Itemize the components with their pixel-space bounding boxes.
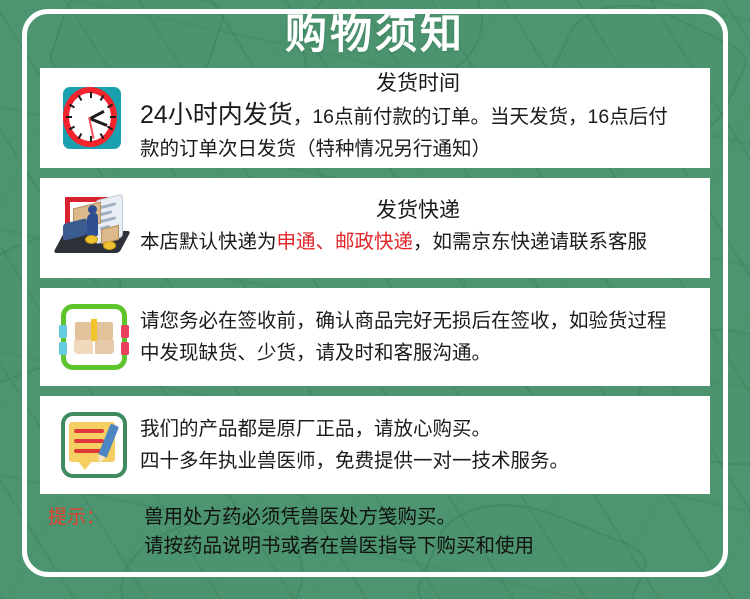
card-text-rest: ，16点前付款的订单。当天发货，16点后付 — [293, 106, 668, 128]
card-heading: 发货时间 — [140, 71, 696, 97]
notice-card-list: 发货时间 24小时内发货，16点前付款的订单。当天发货，16点后付 款的订单次日… — [40, 68, 710, 504]
card-text-line: 款的订单次日发货（特种情况另行通知） — [140, 133, 696, 165]
card-text-line: 本店默认快递为申通、邮政快递，如需京东快递请联系客服 — [140, 226, 696, 258]
card-icon-slot — [48, 408, 140, 482]
delivery-courier-icon — [57, 191, 131, 265]
card-icon-slot — [48, 191, 140, 265]
card-text-line: 中发现缺货、少货，请及时和客服沟通。 — [140, 337, 696, 369]
tip-text-line: 兽用处方药必须凭兽医处方笺购买。 — [144, 503, 708, 532]
notice-card-quality: 我们的产品都是原厂正品，请放心购买。 四十多年执业兽医师，免费提供一对一技术服务… — [40, 396, 710, 494]
tip-text-line: 请按药品说明书或者在兽医指导下购买和使用 — [144, 532, 708, 561]
notice-card-shipping-time: 发货时间 24小时内发货，16点前付款的订单。当天发货，16点后付 款的订单次日… — [40, 68, 710, 168]
card-body: 请您务必在签收前，确认商品完好无损后在签收，如验货过程 中发现缺货、少货，请及时… — [140, 305, 700, 369]
card-text-line: 请您务必在签收前，确认商品完好无损后在签收，如验货过程 — [140, 305, 696, 337]
tip-text: 兽用处方药必须凭兽医处方笺购买。 请按药品说明书或者在兽医指导下购买和使用 — [144, 503, 708, 561]
card-text-suffix: ，如需京东快递请联系客服 — [413, 231, 647, 253]
emphasis-text: 24小时内发货 — [140, 101, 293, 129]
package-box-icon — [57, 300, 131, 374]
note-pencil-icon — [57, 408, 131, 482]
card-body: 发货时间 24小时内发货，16点前付款的订单。当天发货，16点后付 款的订单次日… — [140, 71, 700, 165]
tip-label: 提示： — [48, 503, 144, 532]
card-icon-slot — [48, 81, 140, 155]
prescription-tip: 提示： 兽用处方药必须凭兽医处方笺购买。 请按药品说明书或者在兽医指导下购买和使… — [48, 503, 708, 561]
card-icon-slot — [48, 300, 140, 374]
card-text-prefix: 本店默认快递为 — [140, 231, 277, 253]
notice-card-courier: 发货快递 本店默认快递为申通、邮政快递，如需京东快递请联系客服 — [40, 178, 710, 278]
page-title: 购物须知 — [0, 8, 750, 60]
card-body: 发货快递 本店默认快递为申通、邮政快递，如需京东快递请联系客服 — [140, 198, 700, 258]
highlight-courier-names: 申通、邮政快递 — [277, 231, 414, 253]
notice-card-inspection: 请您务必在签收前，确认商品完好无损后在签收，如验货过程 中发现缺货、少货，请及时… — [40, 288, 710, 386]
shopping-notice-poster: 购物须知 — [0, 0, 750, 599]
alarm-clock-icon — [57, 81, 131, 155]
card-text-line: 四十多年执业兽医师，免费提供一对一技术服务。 — [140, 445, 696, 477]
card-heading: 发货快递 — [140, 198, 696, 224]
card-text-line: 24小时内发货，16点前付款的订单。当天发货，16点后付 — [140, 99, 696, 133]
card-body: 我们的产品都是原厂正品，请放心购买。 四十多年执业兽医师，免费提供一对一技术服务… — [140, 413, 700, 477]
card-text-line: 我们的产品都是原厂正品，请放心购买。 — [140, 413, 696, 445]
